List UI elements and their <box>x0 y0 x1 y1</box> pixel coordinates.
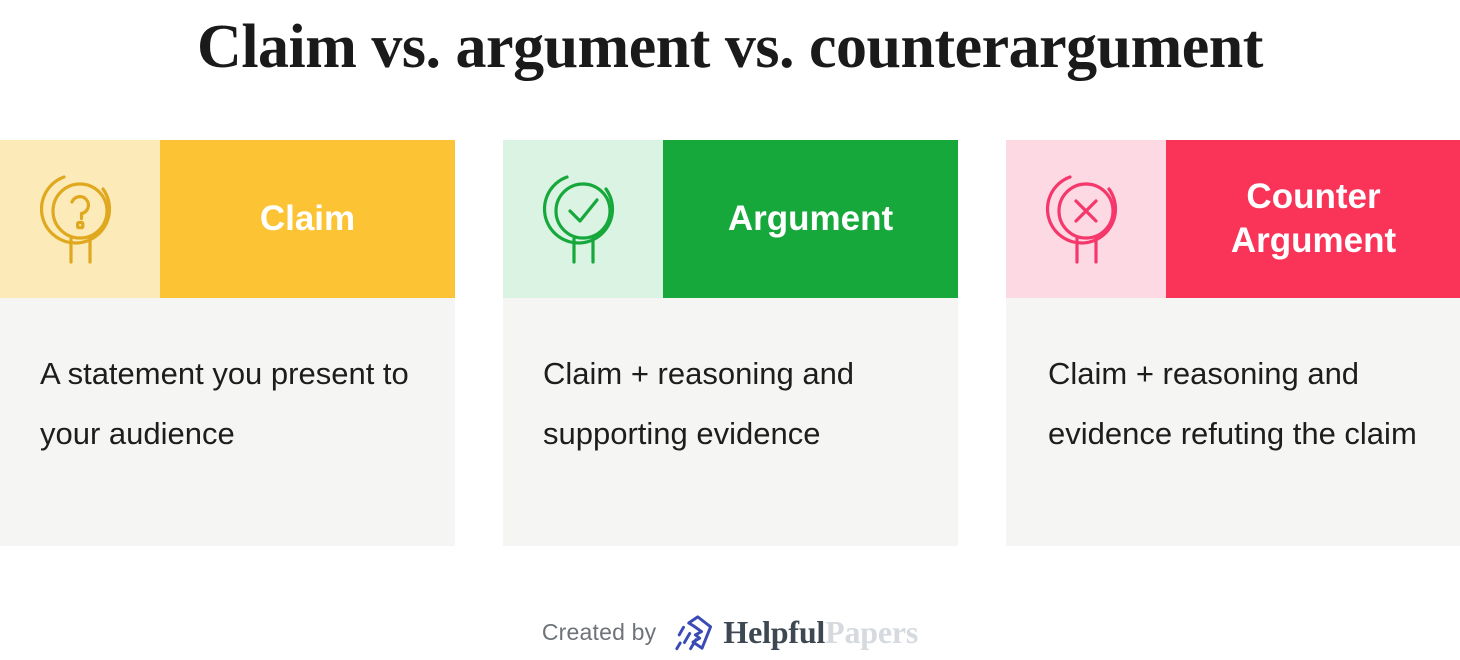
brand-name: HelpfulPapers <box>723 614 918 651</box>
icon-panel <box>503 140 663 298</box>
card-body-text: A statement you present to your audience <box>40 344 415 464</box>
brand-second: Papers <box>825 614 918 650</box>
card-body: A statement you present to your audience <box>0 298 455 546</box>
card-header: Argument <box>503 140 958 298</box>
card-body: Claim + reasoning and supporting evidenc… <box>503 298 958 546</box>
card-header: Claim <box>0 140 455 298</box>
check-mark-circle-icon <box>537 167 629 271</box>
label-panel: Claim <box>160 140 455 298</box>
icon-panel <box>1006 140 1166 298</box>
helpfulpapers-logo-icon <box>672 614 714 652</box>
card-argument: Argument Claim + reasoning and supportin… <box>503 140 958 546</box>
page-title: Claim vs. argument vs. counterargument <box>0 8 1460 86</box>
card-label: Argument <box>728 197 893 241</box>
card-header: Counter Argument <box>1006 140 1460 298</box>
question-mark-circle-icon <box>34 167 126 271</box>
label-panel: Argument <box>663 140 958 298</box>
footer-attribution: Created by HelpfulPapers <box>0 605 1460 660</box>
card-label: Counter Argument <box>1231 175 1396 263</box>
icon-panel <box>0 140 160 298</box>
cross-mark-circle-icon <box>1040 167 1132 271</box>
label-panel: Counter Argument <box>1166 140 1460 298</box>
card-counterargument: Counter Argument Claim + reasoning and e… <box>1006 140 1460 546</box>
card-claim: Claim A statement you present to your au… <box>0 140 455 546</box>
brand-first: Helpful <box>723 614 825 650</box>
infographic-page: { "title": "Claim vs. argument vs. count… <box>0 0 1460 660</box>
card-label: Claim <box>260 197 355 241</box>
card-body-text: Claim + reasoning and evidence refuting … <box>1048 344 1433 464</box>
created-by-label: Created by <box>542 619 657 646</box>
card-body-text: Claim + reasoning and supporting evidenc… <box>543 344 918 464</box>
comparison-cards: Claim A statement you present to your au… <box>0 140 1460 546</box>
card-body: Claim + reasoning and evidence refuting … <box>1006 298 1460 546</box>
